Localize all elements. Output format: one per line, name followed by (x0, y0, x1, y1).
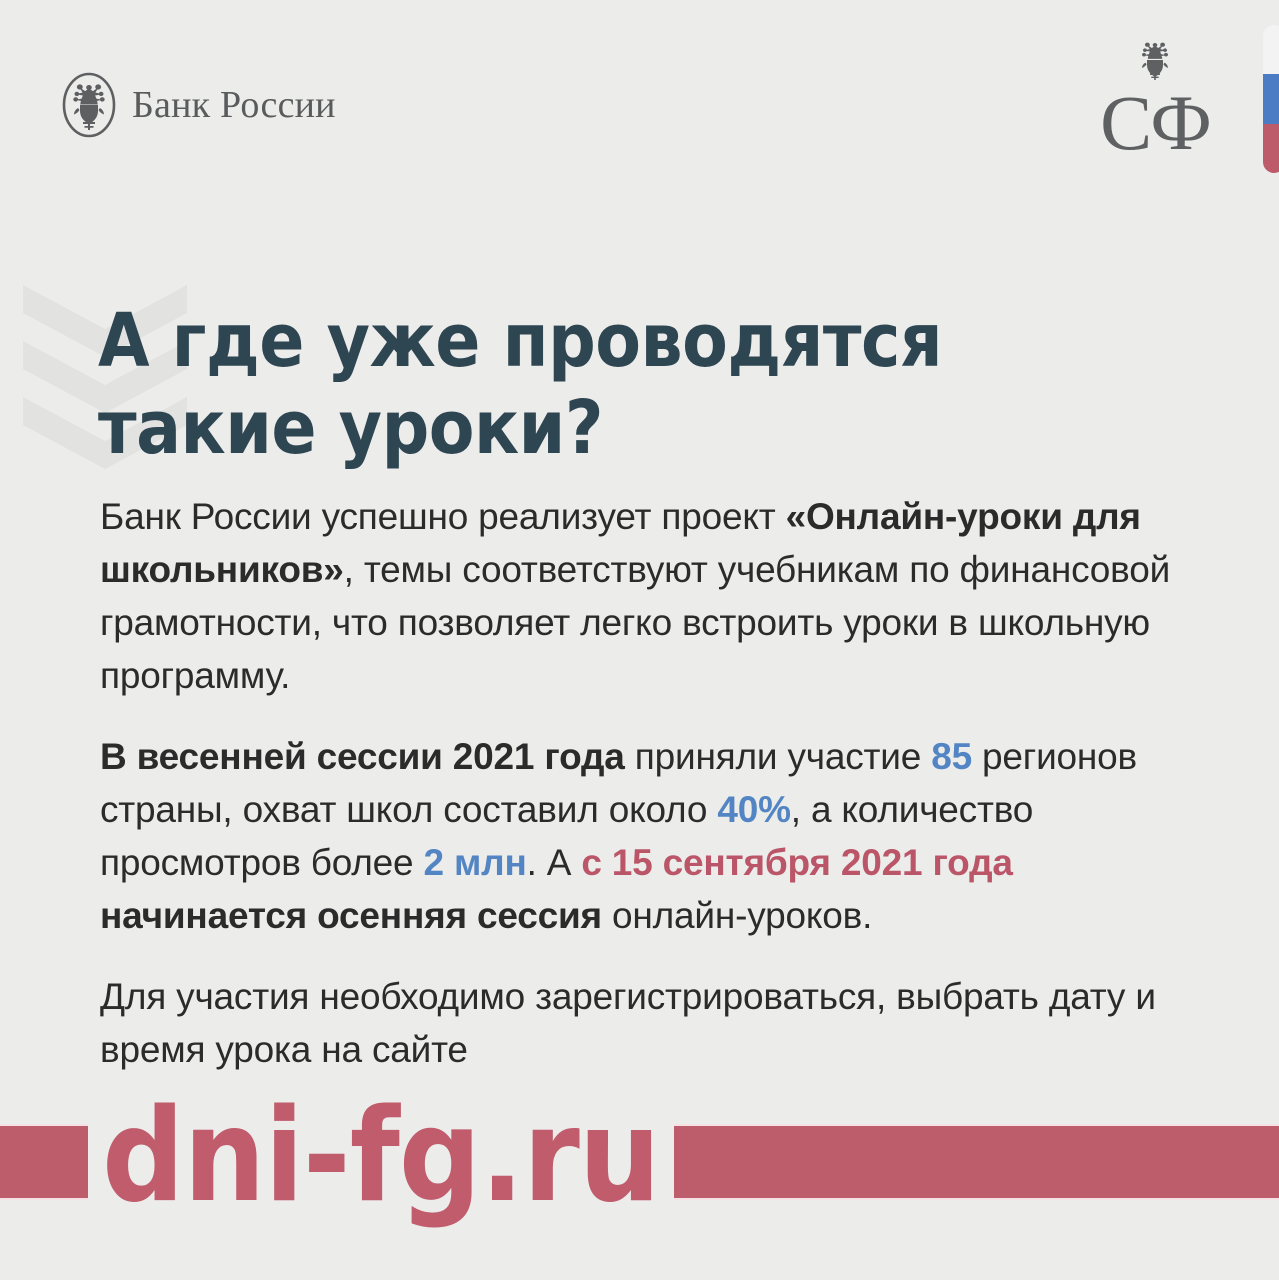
website-url[interactable]: dni-fg.ru (88, 1082, 674, 1232)
footer: dni-fg.ru (0, 1124, 1279, 1280)
paragraph-registration-instructions: Для участия необходимо зарегистрироватьс… (100, 970, 1205, 1076)
flag-stripe-white (1263, 25, 1279, 74)
russian-flag-icon (1263, 25, 1279, 173)
p2-school-coverage: 40% (717, 789, 790, 830)
council-of-federation-letters: СФ (1060, 86, 1250, 160)
paragraph-session-stats: В весенней сессии 2021 года приняли учас… (100, 730, 1205, 942)
p2-part4: . А (527, 842, 582, 883)
flag-stripe-blue (1263, 74, 1279, 123)
bank-of-russia-logo: Банк России (62, 72, 336, 138)
paragraph-project-description: Банк России успешно реализует проект «Он… (100, 490, 1205, 702)
page-title: А где уже проводятся такие уроки? (98, 298, 1098, 473)
p2-spring-session: В весенней сессии 2021 года (100, 736, 625, 777)
russian-coat-of-arms-icon (1060, 40, 1250, 84)
bank-of-russia-wordmark: Банк России (132, 86, 336, 124)
flag-stripe-red (1263, 124, 1279, 173)
p2-part1: приняли участие (625, 736, 932, 777)
infographic-page: Банк России СФ (0, 0, 1279, 1280)
p2-start-date: с 15 сентября 2021 года (581, 842, 1012, 883)
page-title-line-2: такие уроки? (98, 385, 1098, 472)
p2-views-count: 2 млн (424, 842, 527, 883)
page-title-line-1: А где уже проводятся (98, 298, 1098, 385)
p1-part1: Банк России успешно реализует проект (100, 496, 786, 537)
body-copy: Банк России успешно реализует проект «Он… (100, 490, 1205, 1076)
council-of-federation-logo: СФ (1060, 40, 1250, 160)
header: Банк России СФ (0, 0, 1279, 200)
p2-regions-count: 85 (931, 736, 972, 777)
p2-autumn-session: начинается осенняя сессия (100, 895, 602, 936)
double-headed-eagle-oval-icon (62, 72, 116, 138)
p2-part5: онлайн-уроков. (602, 895, 872, 936)
